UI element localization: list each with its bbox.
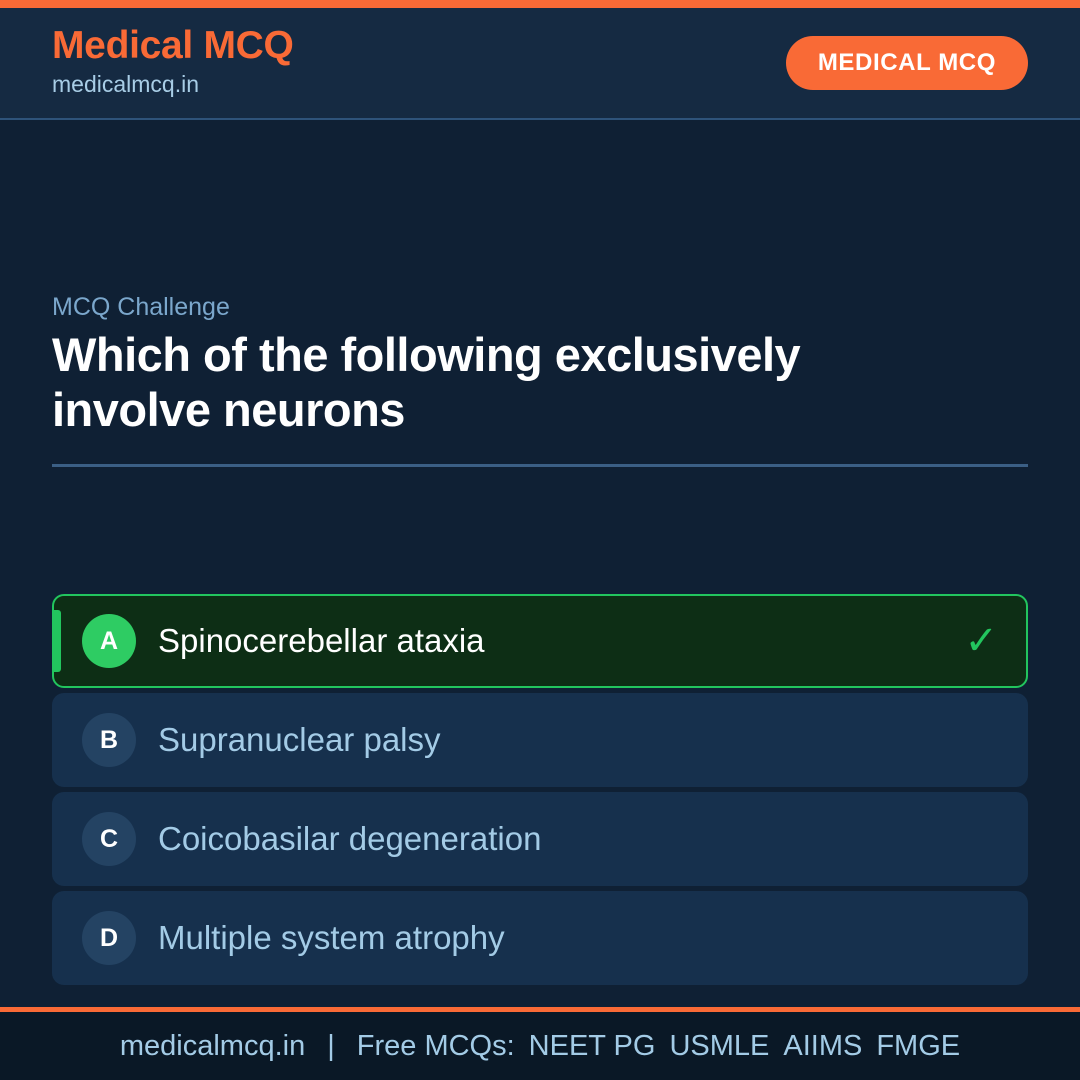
option-row-d[interactable]: D Multiple system atrophy xyxy=(52,891,1028,985)
footer-exam-aiims[interactable]: AIIMS xyxy=(783,1030,862,1063)
question-block: MCQ Challenge Which of the following exc… xyxy=(52,292,1028,467)
check-icon: ✓ xyxy=(964,621,998,661)
mcq-card: Medical MCQ medicalmcq.in MEDICAL MCQ MC… xyxy=(0,0,1080,1080)
option-badge-b: B xyxy=(82,713,136,767)
option-label-d: Multiple system atrophy xyxy=(158,918,1000,958)
brand-title: Medical MCQ xyxy=(52,26,294,67)
question-eyebrow: MCQ Challenge xyxy=(52,292,1028,322)
footer-site-link[interactable]: medicalmcq.in xyxy=(120,1030,305,1063)
header-badge: MEDICAL MCQ xyxy=(786,36,1028,90)
question-divider xyxy=(52,464,1028,467)
footer-label: Free MCQs: xyxy=(357,1030,515,1063)
correct-accent-bar xyxy=(54,610,61,672)
footer-exam-fmge[interactable]: FMGE xyxy=(876,1030,960,1063)
brand-block: Medical MCQ medicalmcq.in xyxy=(52,26,294,100)
option-label-b: Supranuclear palsy xyxy=(158,720,1000,760)
header-bar: Medical MCQ medicalmcq.in MEDICAL MCQ xyxy=(0,8,1080,120)
question-text: Which of the following exclusively invol… xyxy=(52,328,912,438)
option-badge-c: C xyxy=(82,812,136,866)
footer-content: medicalmcq.in | Free MCQs: NEET PG USMLE… xyxy=(120,1030,960,1063)
option-row-c[interactable]: C Coicobasilar degeneration xyxy=(52,792,1028,886)
option-label-a: Spinocerebellar ataxia xyxy=(158,621,948,661)
footer-bar: medicalmcq.in | Free MCQs: NEET PG USMLE… xyxy=(0,1012,1080,1080)
brand-subtitle: medicalmcq.in xyxy=(52,69,294,100)
option-label-c: Coicobasilar degeneration xyxy=(158,819,1000,859)
option-row-a[interactable]: A Spinocerebellar ataxia ✓ xyxy=(52,594,1028,688)
options-list: A Spinocerebellar ataxia ✓ B Supranuclea… xyxy=(52,594,1028,985)
top-accent-stripe xyxy=(0,0,1080,8)
option-row-b[interactable]: B Supranuclear palsy xyxy=(52,693,1028,787)
footer-separator: | xyxy=(327,1030,335,1063)
footer-exam-neet-pg[interactable]: NEET PG xyxy=(529,1030,656,1063)
main-content: MCQ Challenge Which of the following exc… xyxy=(0,120,1080,1007)
option-badge-d: D xyxy=(82,911,136,965)
footer-exam-usmle[interactable]: USMLE xyxy=(669,1030,769,1063)
option-badge-a: A xyxy=(82,614,136,668)
